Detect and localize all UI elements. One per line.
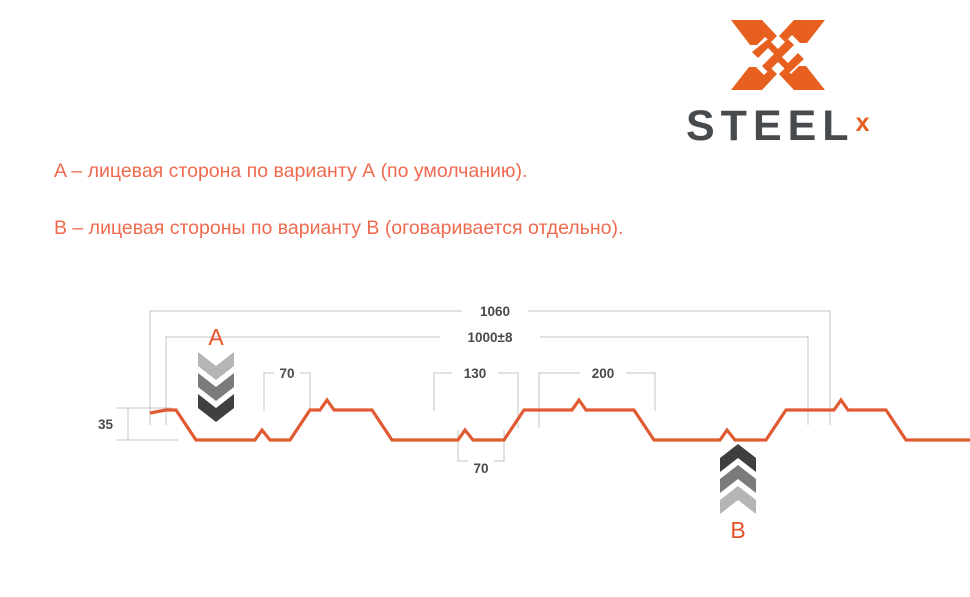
description-line-variant-a: A – лицевая сторона по варианту А (по ум…	[54, 160, 527, 183]
chevron-down-icon-1	[198, 352, 234, 380]
marker-label-a: A	[208, 324, 224, 350]
dim-label-rib-span: 130	[464, 366, 487, 381]
dim-label-covering-width: 1000±8	[468, 330, 513, 345]
chevron-up-icon-3	[720, 486, 756, 514]
logo-x-superscript: x	[856, 109, 870, 137]
dim-label-height: 35	[98, 417, 114, 432]
dim-label-overall-width: 1060	[480, 304, 510, 319]
steelx-x-logo-mark-icon	[730, 18, 826, 92]
chevron-down-icon-group	[198, 352, 234, 422]
steelx-logo: STEELx	[686, 18, 902, 144]
dim-label-valley-width: 70	[473, 461, 488, 476]
dim-label-pitch: 200	[592, 366, 615, 381]
page-root: STEELx A – лицевая сторона по варианту А…	[0, 0, 970, 597]
corrugated-profile-line	[150, 400, 970, 440]
marker-label-b: B	[730, 517, 745, 543]
dim-label-crest-width: 70	[279, 366, 294, 381]
profile-cross-section-drawing: 1060 1000±8 70 130 200 70 35 A	[0, 280, 970, 570]
marker-side-a: A	[198, 324, 234, 422]
logo-steel-text: STEEL	[686, 102, 855, 150]
description-line-variant-b: B – лицевая стороны по варианту B (огова…	[54, 217, 623, 240]
steelx-wordmark: STEELx	[686, 106, 902, 146]
chevron-up-icon-group	[720, 444, 756, 514]
marker-side-b: B	[720, 444, 756, 543]
